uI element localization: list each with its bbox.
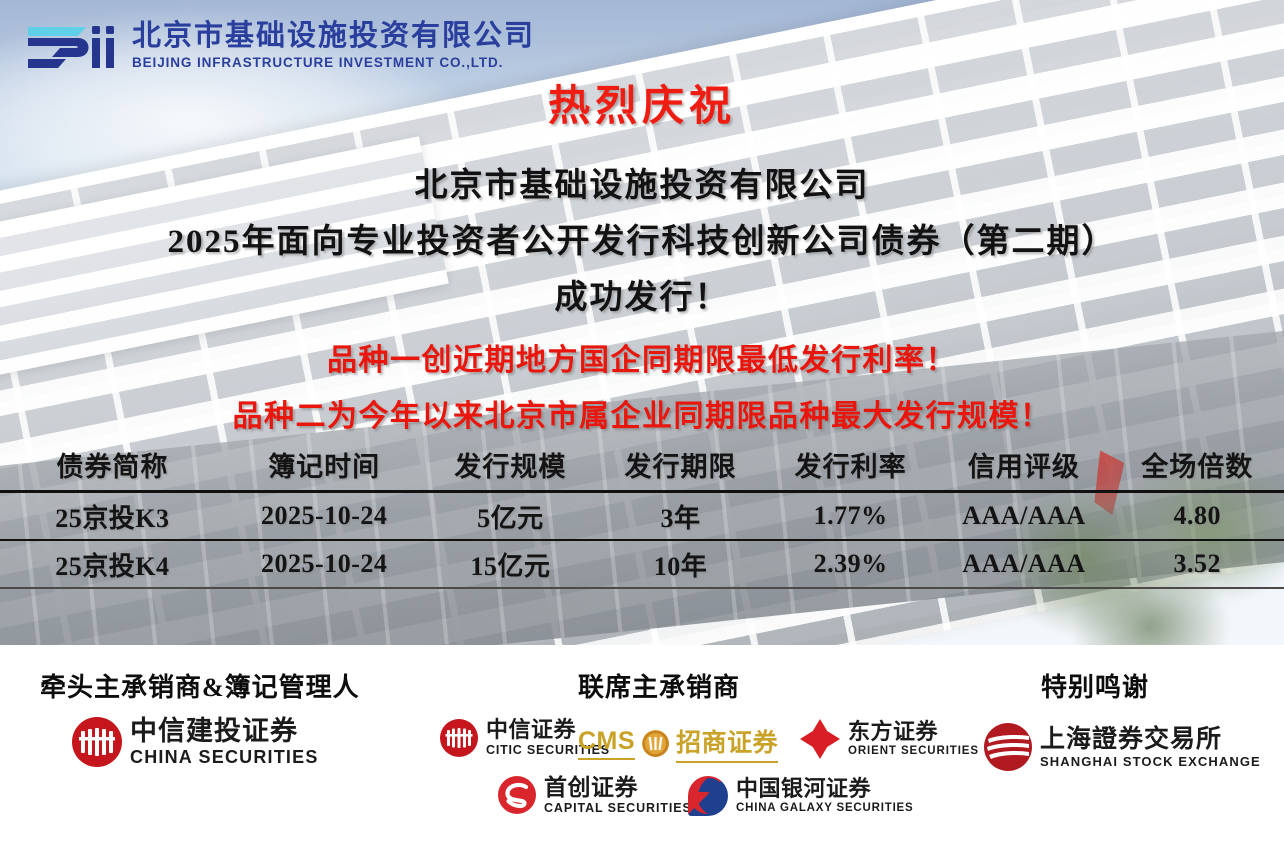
cell-tenor: 10年	[597, 540, 764, 588]
citic-securities-circle-icon	[440, 719, 478, 757]
title-line-2: 2025年面向专业投资者公开发行科技创新公司债券（第二期）	[0, 214, 1284, 270]
bii-logo-icon	[22, 23, 118, 69]
cms-gold-icon	[642, 730, 669, 757]
highlight-line-1: 品种一创近期地方国企同期限最低发行利率！	[0, 333, 1284, 389]
capital-securities-swirl-icon	[498, 776, 536, 814]
logo-label-en: SHANGHAI STOCK EXCHANGE	[1040, 755, 1261, 768]
bond-issuance-table: 债券简称 簿记时间 发行规模 发行期限 发行利率 信用评级 全场倍数 25京投K…	[0, 438, 1284, 589]
cell-bond-name: 25京投K3	[0, 492, 225, 541]
highlight-line-2: 品种二为今年以来北京市属企业同期限品种最大发行规模！	[0, 389, 1284, 445]
cell-rating: AAA/AAA	[937, 492, 1110, 541]
celebration-headline: 热烈庆祝	[0, 72, 1284, 133]
main-title-block: 北京市基础设施投资有限公司 2025年面向专业投资者公开发行科技创新公司债券（第…	[0, 158, 1284, 326]
cell-rate: 1.77%	[764, 492, 937, 541]
orient-securities-diamond-icon	[800, 719, 840, 759]
col-header-bond-name: 债券简称	[0, 438, 225, 492]
col-header-rate: 发行利率	[764, 438, 937, 492]
cell-tenor: 3年	[597, 492, 764, 541]
cell-book-date: 2025-10-24	[225, 492, 424, 541]
col-header-rating: 信用评级	[937, 438, 1110, 492]
footer-title-joint-underwriter: 联席主承销商	[578, 667, 740, 704]
title-line-3: 成功发行！	[0, 270, 1284, 326]
cell-multiple: 4.80	[1111, 492, 1284, 541]
cell-book-date: 2025-10-24	[225, 540, 424, 588]
col-header-size: 发行规模	[424, 438, 597, 492]
logo-label-cn: 中信建投证券	[130, 718, 319, 745]
col-header-book-date: 簿记时间	[225, 438, 424, 492]
shanghai-stock-exchange-icon	[984, 723, 1032, 771]
logo-label-cn: 首创证券	[544, 776, 692, 799]
china-galaxy-icon	[688, 776, 728, 816]
logo-label-en: ORIENT SECURITIES	[848, 746, 979, 758]
logo-cms-china-merchants-securities: CMS 招商证券	[578, 723, 778, 763]
cell-size: 5亿元	[424, 492, 597, 541]
footer-section: 牵头主承销商&簿记管理人 联席主承销商 特别鸣谢	[0, 645, 1284, 846]
logo-label-en: CHINA SECURITIES	[130, 748, 319, 766]
cms-wordmark: CMS	[578, 727, 635, 760]
footer-title-special-thanks: 特别鸣谢	[1041, 667, 1149, 704]
footer-titles: 牵头主承销商&簿记管理人 联席主承销商 特别鸣谢	[0, 667, 1284, 701]
cell-size: 15亿元	[424, 540, 597, 588]
logo-capital-securities: 首创证券 CAPITAL SECURITIES	[498, 776, 692, 815]
title-line-1: 北京市基础设施投资有限公司	[0, 158, 1284, 214]
header-company-name-en: BEIJING INFRASTRUCTURE INVESTMENT CO.,LT…	[132, 56, 535, 70]
footer-title-lead-underwriter: 牵头主承销商&簿记管理人	[40, 667, 360, 704]
cell-rating: AAA/AAA	[937, 540, 1110, 588]
poster-canvas: 北京市基础设施投资有限公司 BEIJING INFRASTRUCTURE INV…	[0, 0, 1284, 846]
logo-orient-securities: 东方证券 ORIENT SECURITIES	[800, 719, 979, 759]
logo-shanghai-stock-exchange: 上海證券交易所 SHANGHAI STOCK EXCHANGE	[984, 723, 1261, 771]
col-header-multiple: 全场倍数	[1111, 438, 1284, 492]
logo-label-cn: 东方证券	[848, 721, 979, 743]
logo-china-galaxy-securities: 中国银河证券 CHINA GALAXY SECURITIES	[688, 776, 914, 816]
logo-label-en: CHINA GALAXY SECURITIES	[736, 803, 914, 815]
logo-china-securities: 中信建投证券 CHINA SECURITIES	[72, 717, 319, 767]
table-row: 25京投K4 2025-10-24 15亿元 10年 2.39% AAA/AAA…	[0, 540, 1284, 588]
table-header-row: 债券简称 簿记时间 发行规模 发行期限 发行利率 信用评级 全场倍数	[0, 438, 1284, 492]
header-company-name-cn: 北京市基础设施投资有限公司	[132, 22, 535, 51]
highlight-block: 品种一创近期地方国企同期限最低发行利率！ 品种二为今年以来北京市属企业同期限品种…	[0, 333, 1284, 445]
citic-securities-circle-icon	[72, 717, 122, 767]
col-header-tenor: 发行期限	[597, 438, 764, 492]
logo-label-cn: 上海證券交易所	[1040, 727, 1261, 752]
logo-label-en: CAPITAL SECURITIES	[544, 802, 692, 815]
table-row: 25京投K3 2025-10-24 5亿元 3年 1.77% AAA/AAA 4…	[0, 492, 1284, 541]
cell-rate: 2.39%	[764, 540, 937, 588]
logo-label-cn: 招商证券	[676, 723, 778, 763]
cell-bond-name: 25京投K4	[0, 540, 225, 588]
logo-label-cn: 中国银河证券	[736, 778, 914, 800]
cell-multiple: 3.52	[1111, 540, 1284, 588]
